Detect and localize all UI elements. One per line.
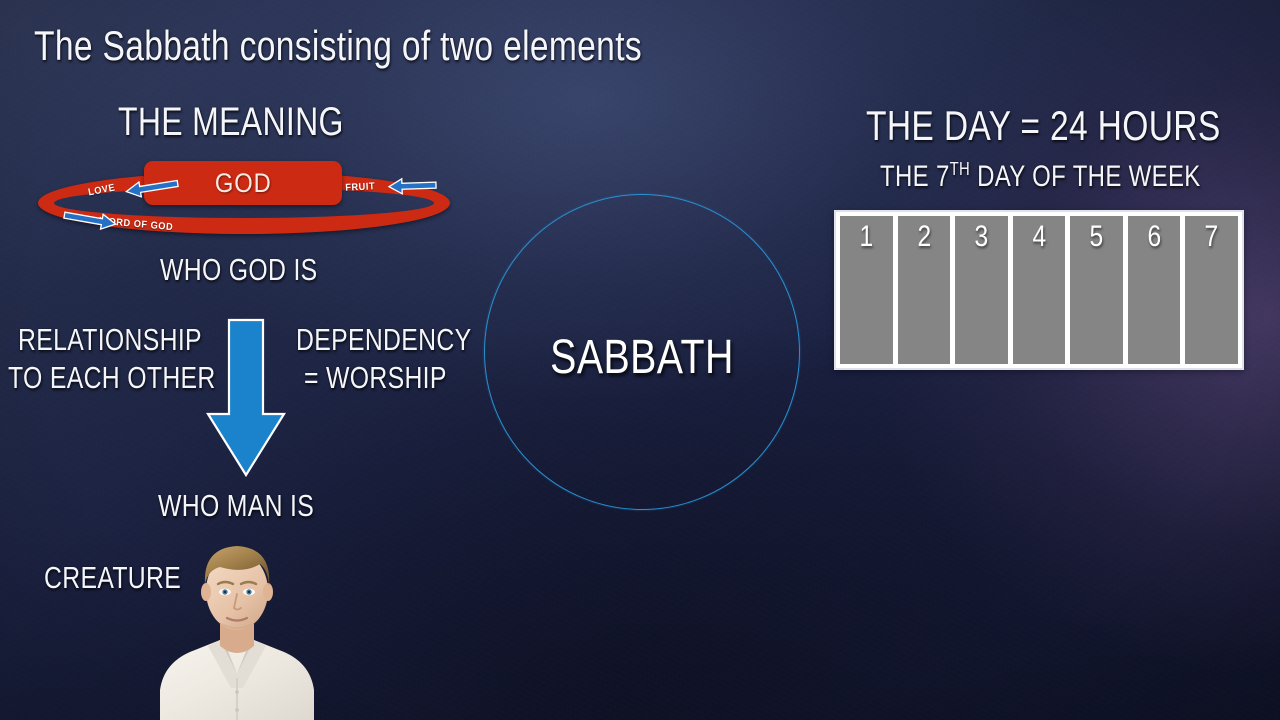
- week-cell-3[interactable]: 3: [955, 216, 1008, 364]
- subheading-prefix: THE 7: [880, 160, 950, 193]
- arrow-left-icon-love: [118, 178, 180, 198]
- label-relationship-line1: RELATIONSHIP: [18, 322, 202, 358]
- subheading-suffix: DAY OF THE WEEK: [970, 160, 1201, 193]
- subheading-ordinal: TH: [950, 158, 970, 179]
- week-cell-4[interactable]: 4: [1013, 216, 1066, 364]
- week-day-number: 6: [1147, 220, 1161, 254]
- portrait-photo: [148, 528, 326, 720]
- week-day-number: 5: [1090, 220, 1104, 254]
- week-cell-2[interactable]: 2: [898, 216, 951, 364]
- label-dependency-line2: = WORSHIP: [304, 360, 447, 396]
- sabbath-label: SABBATH: [512, 330, 771, 385]
- god-label: GOD: [215, 168, 272, 199]
- page-title: The Sabbath consisting of two elements: [34, 22, 642, 70]
- section-heading-day: THE DAY = 24 HOURS: [866, 102, 1221, 150]
- week-grid: 1 2 3 4 5 6 7: [834, 210, 1244, 370]
- week-day-number: 4: [1032, 220, 1046, 254]
- week-day-number: 1: [859, 220, 873, 254]
- label-dependency-line1: DEPENDENCY: [296, 322, 471, 358]
- section-heading-meaning: THE MEANING: [118, 100, 344, 145]
- label-who-man-is: WHO MAN IS: [158, 488, 314, 524]
- week-day-number: 2: [917, 220, 931, 254]
- week-cell-5[interactable]: 5: [1070, 216, 1123, 364]
- god-diagram: GOD LOVE FRUIT WORD OF GOD: [34, 164, 454, 250]
- arrow-down-icon: [205, 318, 287, 478]
- label-who-god-is: WHO GOD IS: [160, 252, 318, 288]
- arrow-right-icon-word: [62, 210, 122, 230]
- label-relationship-line2: TO EACH OTHER: [8, 360, 216, 396]
- week-cell-1[interactable]: 1: [840, 216, 893, 364]
- week-day-number: 3: [975, 220, 989, 254]
- arrow-left-icon-fruit: [382, 176, 438, 196]
- week-day-number: 7: [1205, 220, 1219, 254]
- week-cell-7[interactable]: 7: [1185, 216, 1238, 364]
- slide-canvas: The Sabbath consisting of two elements T…: [0, 0, 1280, 720]
- ring-label-fruit: FRUIT: [345, 181, 375, 194]
- section-subheading-day: THE 7TH DAY OF THE WEEK: [880, 158, 1201, 194]
- week-cell-6[interactable]: 6: [1128, 216, 1181, 364]
